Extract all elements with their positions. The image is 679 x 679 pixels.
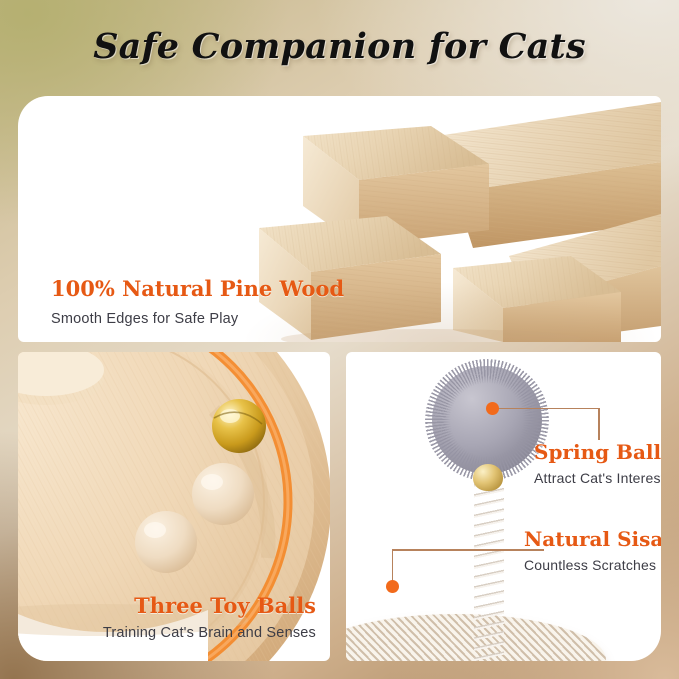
leader-line-spring-vertical [598, 408, 600, 440]
toy-ball-wood-2 [135, 511, 197, 573]
balls-subline: Training Cat's Brain and Senses [103, 625, 316, 641]
leader-line-sisal-vertical [392, 549, 394, 583]
callout-natural-sisal: Natural Sisal Countless Scratches [524, 527, 661, 573]
leader-line-sisal-horizontal [392, 549, 544, 551]
spring-ball-photo [346, 352, 661, 661]
page-title: Safe Companion for Cats [93, 26, 586, 67]
wood-headline: 100% Natural Pine Wood [51, 276, 344, 301]
natural-sisal-headline: Natural Sisal [524, 527, 661, 551]
wood-subline: Smooth Edges for Safe Play [51, 311, 344, 327]
gold-bell [473, 464, 503, 491]
toy-ball-wood-1 [192, 463, 254, 525]
page-header: Safe Companion for Cats [0, 0, 679, 92]
callout-dot-natural-sisal [386, 580, 399, 593]
panel-spring-ball-and-sisal: Spring Ball Attract Cat's Interest Natur… [346, 352, 661, 661]
wood-text-block: 100% Natural Pine Wood Smooth Edges for … [51, 276, 344, 327]
callout-dot-spring-ball [486, 402, 499, 415]
panel-natural-pine-wood: 100% Natural Pine Wood Smooth Edges for … [18, 96, 661, 342]
balls-text-block: Three Toy Balls Training Cat's Brain and… [103, 593, 316, 641]
leader-line-spring-horizontal [498, 408, 600, 410]
spring-ball-subline: Attract Cat's Interest [534, 470, 661, 486]
coil-spring [474, 484, 504, 661]
balls-headline: Three Toy Balls [103, 593, 316, 618]
gray-pompom-ball [432, 366, 542, 474]
callout-spring-ball: Spring Ball Attract Cat's Interest [534, 440, 661, 486]
natural-sisal-subline: Countless Scratches [524, 557, 661, 573]
toy-ball-gold [212, 399, 266, 453]
spring-ball-headline: Spring Ball [534, 440, 661, 464]
panel-three-toy-balls: Three Toy Balls Training Cat's Brain and… [18, 352, 330, 661]
